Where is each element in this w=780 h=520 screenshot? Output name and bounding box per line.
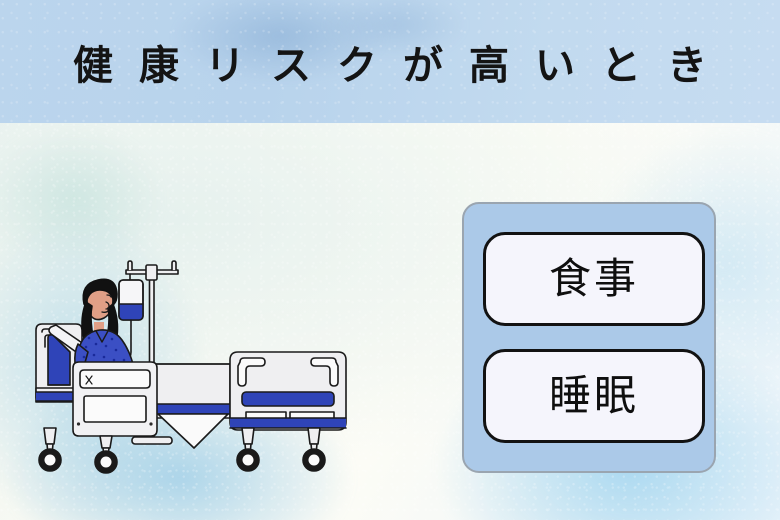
menu-panel: 食事 睡眠	[462, 202, 716, 473]
patient-in-hospital-bed-illustration	[18, 252, 354, 484]
bed-footboard	[230, 352, 346, 430]
page-title: 健康リスクが高いとき	[0, 0, 780, 123]
menu-card-meal-label: 食事	[549, 258, 639, 300]
menu-card-sleep[interactable]: 睡眠	[483, 349, 705, 443]
slide-root: 健康リスクが高いとき	[0, 0, 780, 520]
menu-card-sleep-label: 睡眠	[549, 375, 639, 417]
bed-side-rail	[73, 362, 157, 436]
menu-card-meal[interactable]: 食事	[483, 232, 705, 326]
